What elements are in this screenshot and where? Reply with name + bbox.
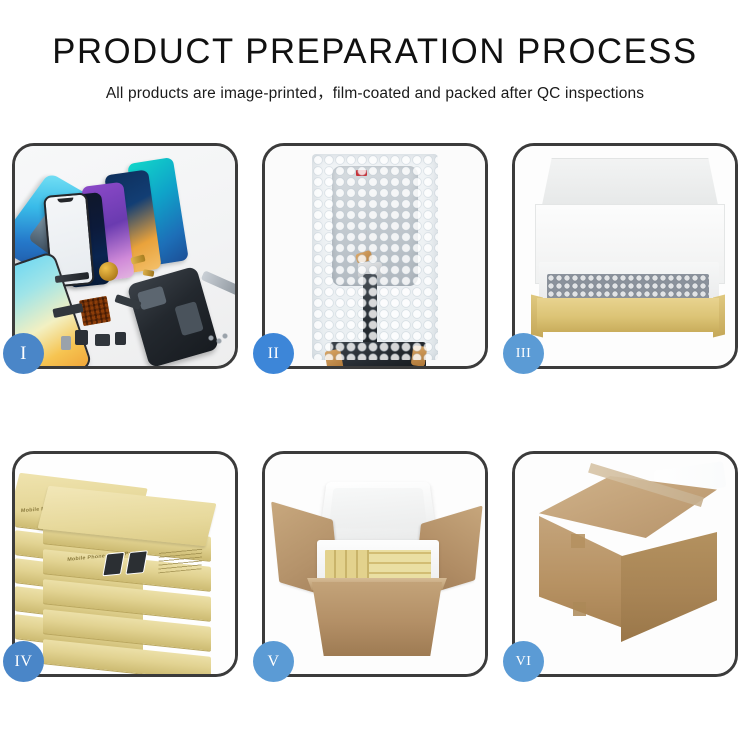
screws-group <box>207 332 229 346</box>
small-part-b <box>95 334 110 346</box>
step-numeral-1: I <box>20 343 27 365</box>
retail-box-stack: Mobile Phone Spare Parts Mobile Phone Sp… <box>15 476 235 664</box>
page-title: PRODUCT PREPARATION PROCESS <box>4 34 747 69</box>
small-part-a <box>75 330 88 345</box>
bubble-texture <box>312 154 438 360</box>
step-1-image <box>15 146 235 366</box>
step-badge-2: II <box>253 333 294 374</box>
carton-body <box>303 582 451 656</box>
step-numeral-5: V <box>267 653 279 671</box>
step-badge-1: I <box>3 333 44 374</box>
step-6-image <box>515 454 735 674</box>
product-preparation-infographic: PRODUCT PREPARATION PROCESS All products… <box>0 0 750 750</box>
step-numeral-3: III <box>516 346 532 362</box>
process-step-panel-2: II <box>262 143 488 369</box>
process-step-panel-4: Mobile Phone Spare Parts Mobile Phone Sp… <box>12 451 238 677</box>
process-step-panel-1: I <box>12 143 238 369</box>
box-spec-lines-front <box>158 548 202 574</box>
carton-tab-upper <box>571 534 585 548</box>
header: PRODUCT PREPARATION PROCESS All products… <box>0 0 750 103</box>
sim-tray-part <box>61 336 71 350</box>
tweezers-tool <box>201 270 235 295</box>
small-part-c <box>115 332 126 345</box>
chip-grid-component <box>79 296 111 326</box>
carton-right-face <box>621 532 717 642</box>
speaker-module <box>99 262 118 281</box>
process-step-panel-6: VI <box>512 451 738 677</box>
process-step-panel-3: III <box>512 143 738 369</box>
step-badge-5: V <box>253 641 294 682</box>
page-subtitle: All products are image-printed，film-coat… <box>0 81 750 103</box>
step-5-image <box>265 454 485 674</box>
step-numeral-6: VI <box>516 654 532 670</box>
carton-tab-lower <box>573 602 586 616</box>
box-lid-back <box>541 158 719 210</box>
step-badge-4: IV <box>3 641 44 682</box>
phone-notch-icon <box>57 197 73 202</box>
step-numeral-4: IV <box>15 653 33 671</box>
gold-connector-b <box>143 269 155 277</box>
process-step-panel-5: V <box>262 451 488 677</box>
gold-tray-front <box>537 298 719 332</box>
step-2-image <box>265 146 485 366</box>
step-4-image: Mobile Phone Spare Parts Mobile Phone Sp… <box>15 454 235 674</box>
step-numeral-2: II <box>268 345 280 363</box>
bubble-wrap-bag <box>312 154 438 360</box>
step-badge-3: III <box>503 333 544 374</box>
step-badge-6: VI <box>503 641 544 682</box>
step-3-image <box>515 146 735 366</box>
process-step-grid: I II <box>12 143 738 677</box>
